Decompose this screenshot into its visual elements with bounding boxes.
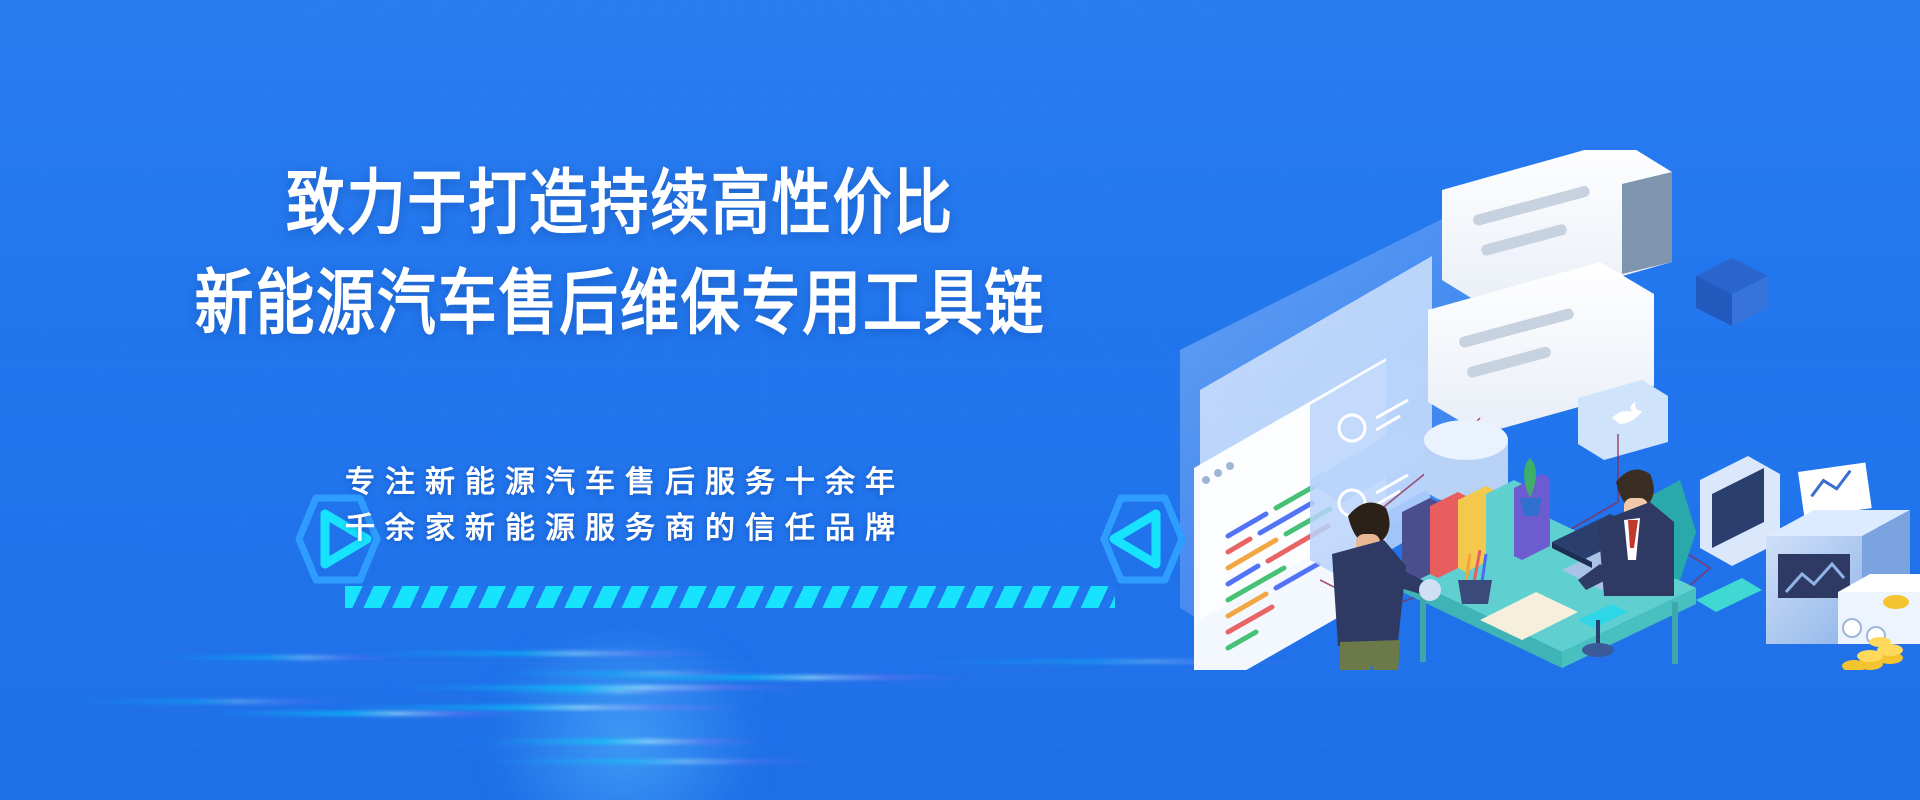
isometric-office-workspace-illustration: [1180, 150, 1920, 670]
diagonal-stripe-divider: [345, 586, 1115, 608]
hero-banner: 致力于打造持续高性价比 新能源汽车售后维保专用工具链 专注新能源汽车售后服务十余…: [0, 0, 1920, 800]
subtitle-line-2: 千余家新能源服务商的信任品牌: [0, 506, 1240, 552]
cube-accent: [1696, 258, 1768, 326]
coin-printing-machine: [1766, 510, 1920, 645]
subtitle: 专注新能源汽车售后服务十余年 千余家新能源服务商的信任品牌: [0, 460, 1240, 552]
headline-line-1: 致力于打造持续高性价比: [12, 162, 1227, 247]
headline: 致力于打造持续高性价比 新能源汽车售后维保专用工具链: [0, 168, 1240, 340]
headline-line-2: 新能源汽车售后维保专用工具链: [12, 262, 1227, 347]
subtitle-line-1: 专注新能源汽车售后服务十余年: [0, 460, 1240, 506]
chart-paper-sheet: [1798, 463, 1872, 518]
tablet-device: [1696, 578, 1762, 612]
